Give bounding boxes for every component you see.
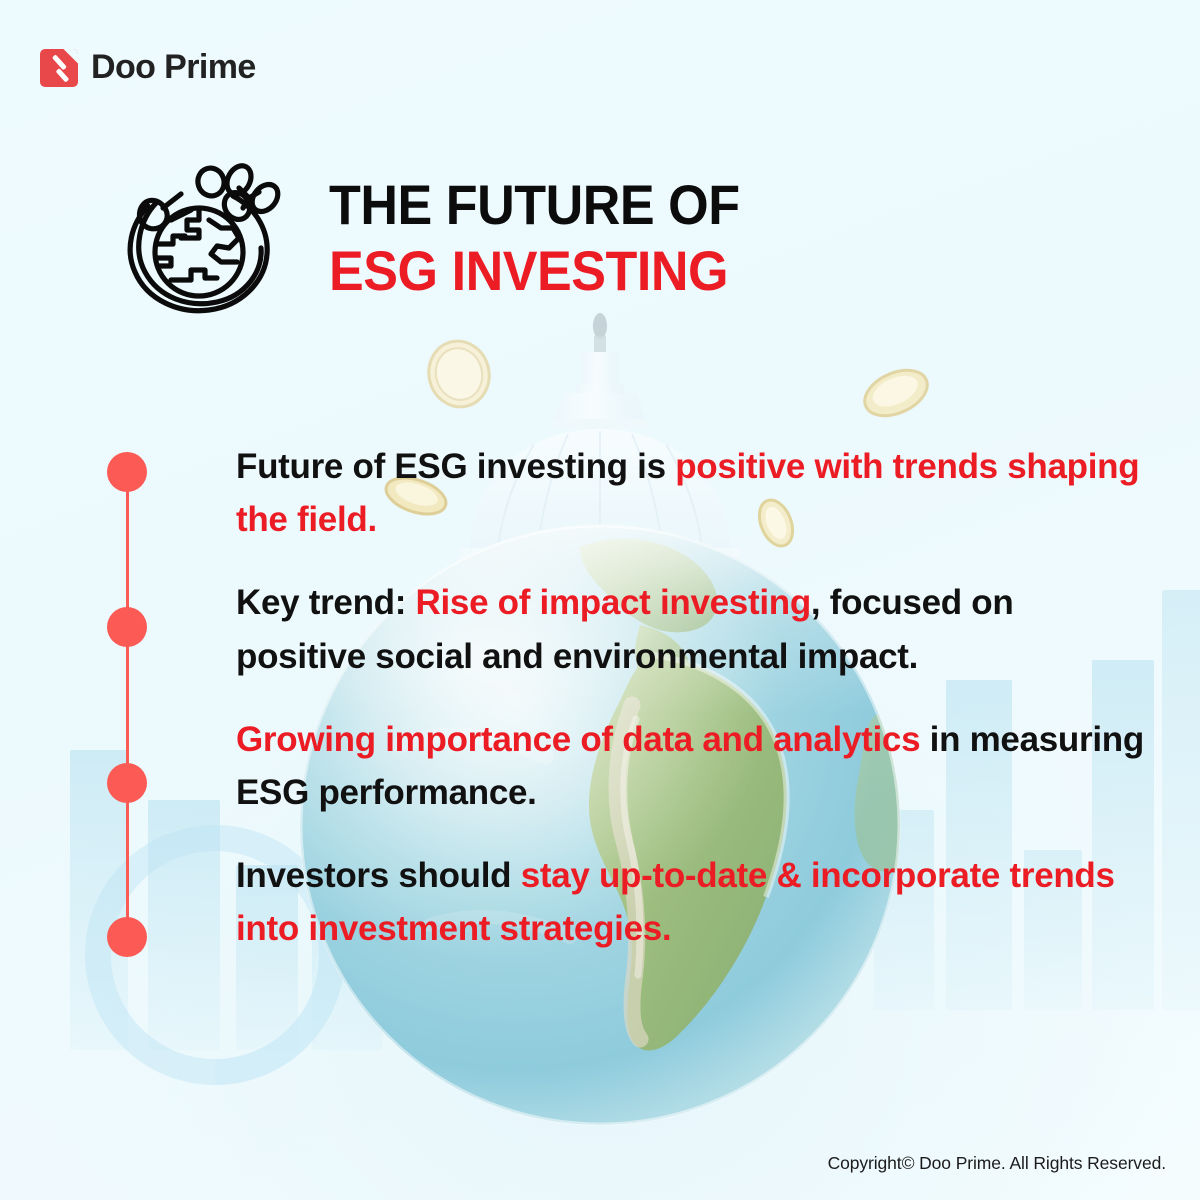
bullet-highlight-text: Growing importance of data and analytics xyxy=(236,720,920,759)
bullet-highlight-text: Rise of impact investing xyxy=(416,583,811,622)
esg-infographic-poster: Doo Prime xyxy=(0,0,1200,1200)
timeline-connector-line xyxy=(126,464,129,948)
bullet-list: Future of ESG investing is positive with… xyxy=(236,440,1146,956)
bullet-item: Key trend: Rise of impact investing, foc… xyxy=(236,576,1146,682)
globe-plug-leaf-icon xyxy=(113,158,289,314)
bullet-dot-2 xyxy=(107,607,147,647)
bullet-item: Future of ESG investing is positive with… xyxy=(236,440,1146,546)
bullet-dot-4 xyxy=(107,917,147,957)
bullet-plain-text: Future of ESG investing is xyxy=(236,447,675,486)
gold-coin-1 xyxy=(424,338,494,410)
page-title-line-2: ESG INVESTING xyxy=(329,238,740,304)
copyright-notice: Copyright© Doo Prime. All Rights Reserve… xyxy=(828,1153,1166,1174)
bullet-plain-text: Key trend: xyxy=(236,583,416,622)
timeline-track xyxy=(107,452,147,952)
bullet-text: Growing importance of data and analytics… xyxy=(236,713,1146,819)
page-title-line-1: THE FUTURE OF xyxy=(329,172,740,238)
bullet-item: Growing importance of data and analytics… xyxy=(236,713,1146,819)
bullet-item: Investors should stay up-to-date & incor… xyxy=(236,849,1146,955)
brand-name: Doo Prime xyxy=(91,48,256,87)
bullet-text: Key trend: Rise of impact investing, foc… xyxy=(236,576,1146,682)
bullet-text: Future of ESG investing is positive with… xyxy=(236,440,1146,546)
title-block: THE FUTURE OF ESG INVESTING xyxy=(113,158,770,314)
doo-prime-logo-mark-icon xyxy=(40,49,78,87)
bullet-plain-text: Investors should xyxy=(236,856,521,895)
bullet-dot-3 xyxy=(107,763,147,803)
title-text-group: THE FUTURE OF ESG INVESTING xyxy=(329,168,770,304)
bullet-dot-1 xyxy=(107,452,147,492)
gold-coin-2 xyxy=(858,362,934,424)
brand-logo[interactable]: Doo Prime xyxy=(40,48,256,87)
bullet-text: Investors should stay up-to-date & incor… xyxy=(236,849,1146,955)
